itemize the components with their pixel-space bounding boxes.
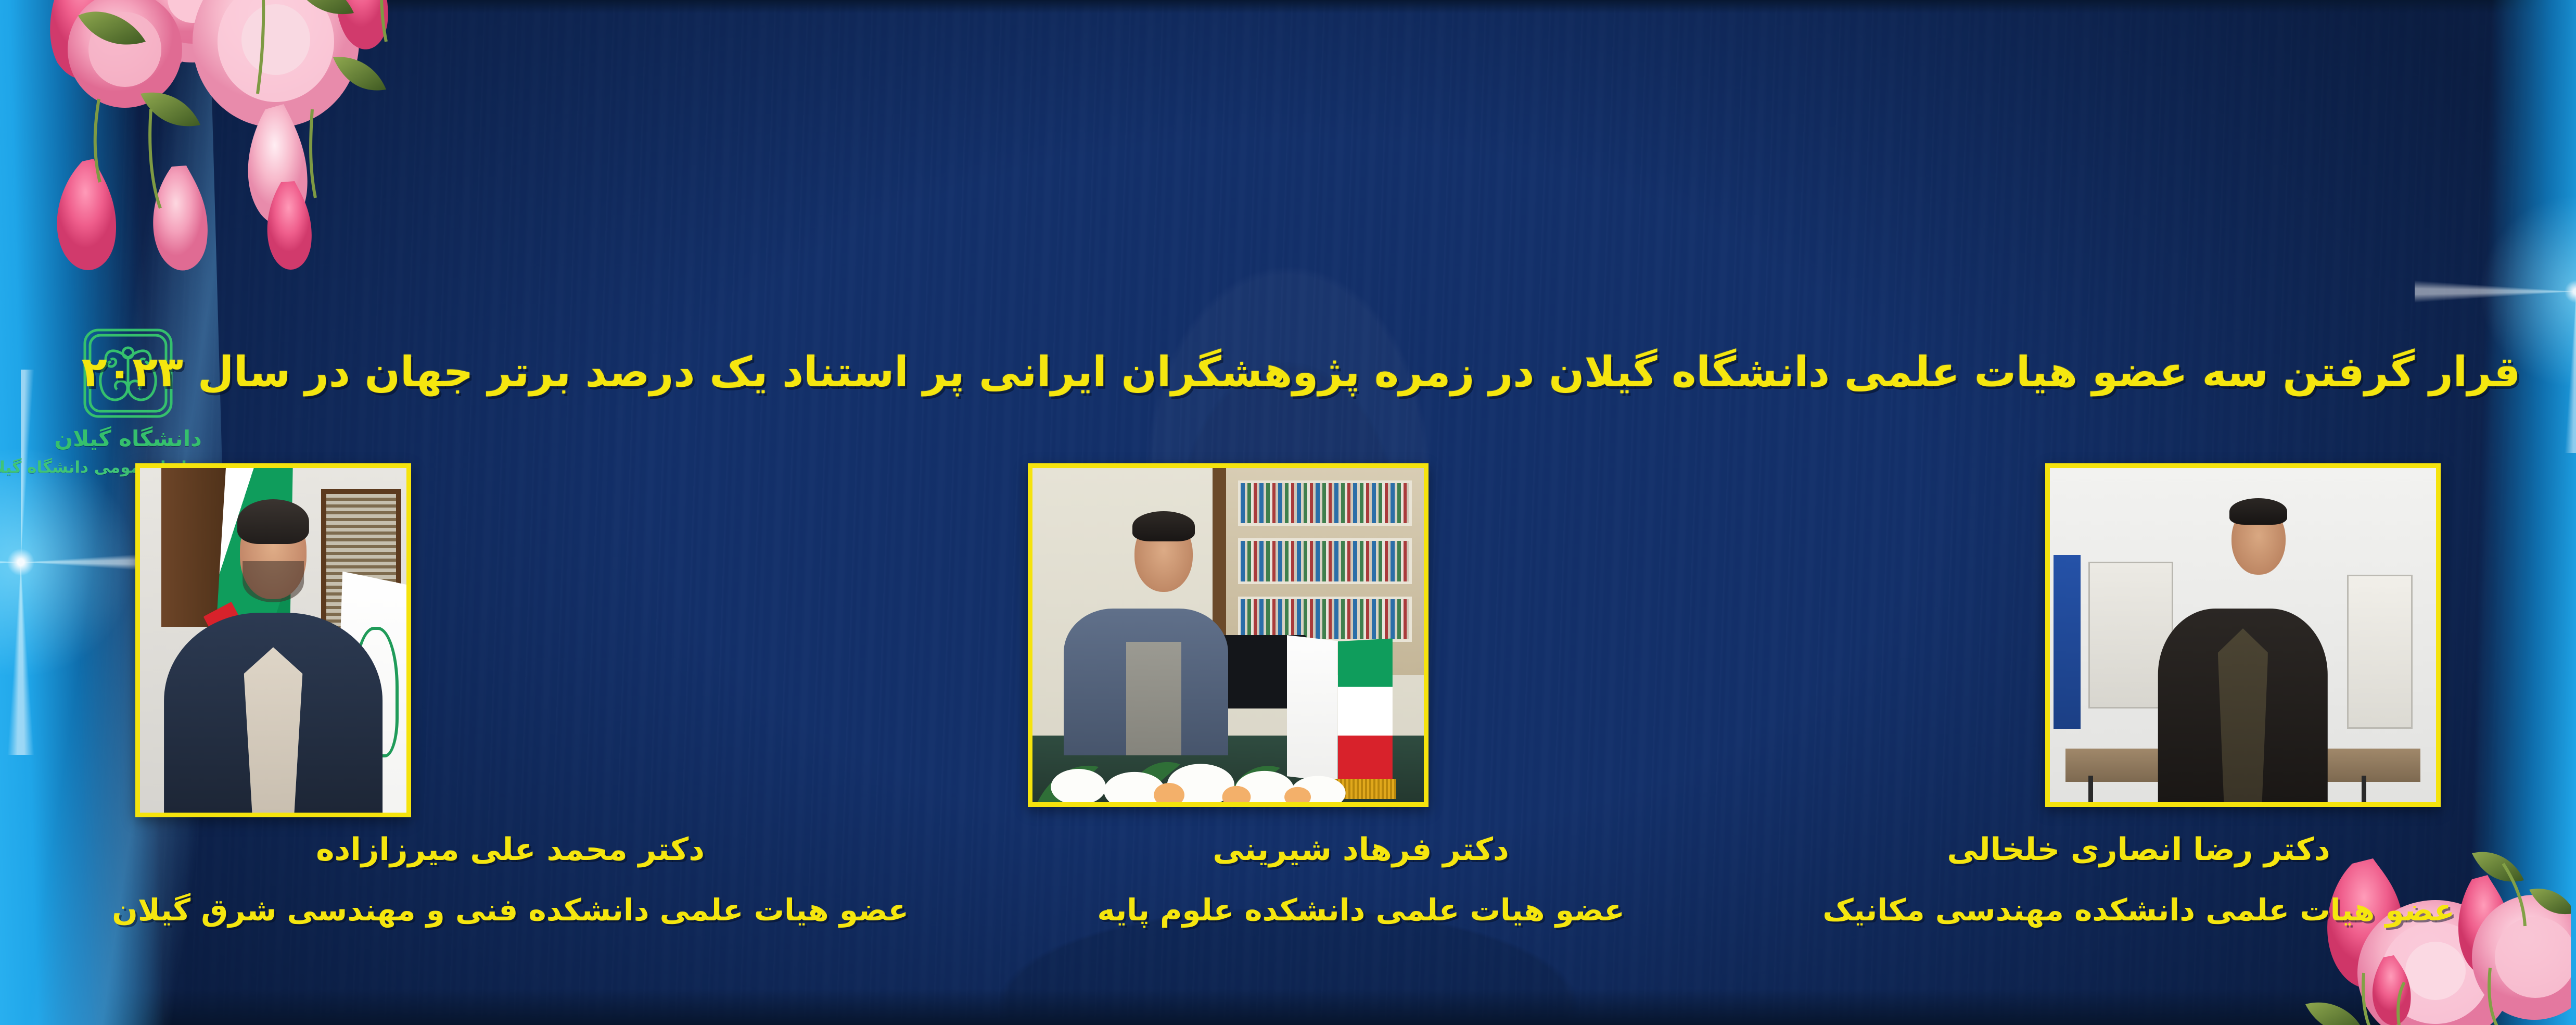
bottom-edge-shade bbox=[0, 989, 2576, 1025]
caption-1: دکتر محمد علی میرزازاده عضو هیات علمی دا… bbox=[73, 830, 948, 986]
person-1-name: دکتر محمد علی میرزازاده bbox=[73, 830, 948, 869]
university-logo-block: دانشگاه گیلان روابط عمومی دانشگاه گیلان bbox=[50, 324, 206, 477]
lab-bench-leg bbox=[2362, 776, 2366, 802]
portrait-card-3 bbox=[2045, 463, 2441, 807]
person-3-name: دکتر رضا انصاری خلخالی bbox=[1774, 830, 2503, 869]
portrait-frame-1 bbox=[135, 463, 411, 817]
caption-2: دکتر فرهاد شیرینی عضو هیات علمی دانشکده … bbox=[997, 830, 1726, 986]
portrait-row bbox=[135, 463, 2441, 822]
portrait-frame-3 bbox=[2045, 463, 2441, 807]
banner-poster: دانشگاه گیلان روابط عمومی دانشگاه گیلان … bbox=[0, 0, 2576, 1025]
person-2-name: دکتر فرهاد شیرینی bbox=[997, 830, 1726, 869]
person-1-hair bbox=[237, 499, 309, 544]
portrait-card-1 bbox=[135, 463, 411, 817]
lab-bench-leg bbox=[2088, 776, 2093, 802]
lab-cabinet-right bbox=[2347, 575, 2413, 728]
caption-3: دکتر رضا انصاری خلخالی عضو هیات علمی دان… bbox=[1774, 830, 2503, 986]
caption-row: دکتر رضا انصاری خلخالی عضو هیات علمی دان… bbox=[73, 830, 2503, 986]
person-3-role: عضو هیات علمی دانشکده مهندسی مکانیک bbox=[1774, 891, 2503, 929]
portrait-frame-2 bbox=[1028, 463, 1429, 807]
person-1-shirt bbox=[244, 647, 303, 813]
bookshelf-row bbox=[1238, 538, 1412, 584]
person-1-role: عضو هیات علمی دانشکده فنی و مهندسی شرق گ… bbox=[73, 891, 948, 929]
bookshelf-row bbox=[1238, 480, 1412, 526]
university-logo-script: دانشگاه گیلان bbox=[50, 424, 206, 453]
person-3-shirt bbox=[2218, 628, 2268, 802]
lab-blue-panel bbox=[2054, 555, 2081, 729]
person-3-hair bbox=[2229, 498, 2287, 525]
person-1-beard bbox=[243, 561, 304, 602]
person-2-hair bbox=[1132, 511, 1195, 541]
page-title: قرار گرفتن سه عضو هیات علمی دانشگاه گیلا… bbox=[198, 333, 2404, 411]
portrait-card-2 bbox=[1028, 463, 1429, 807]
person-2-role: عضو هیات علمی دانشکده علوم پایه bbox=[997, 891, 1726, 929]
flower-bouquet bbox=[1032, 702, 1369, 802]
top-edge-shade bbox=[0, 0, 2576, 14]
